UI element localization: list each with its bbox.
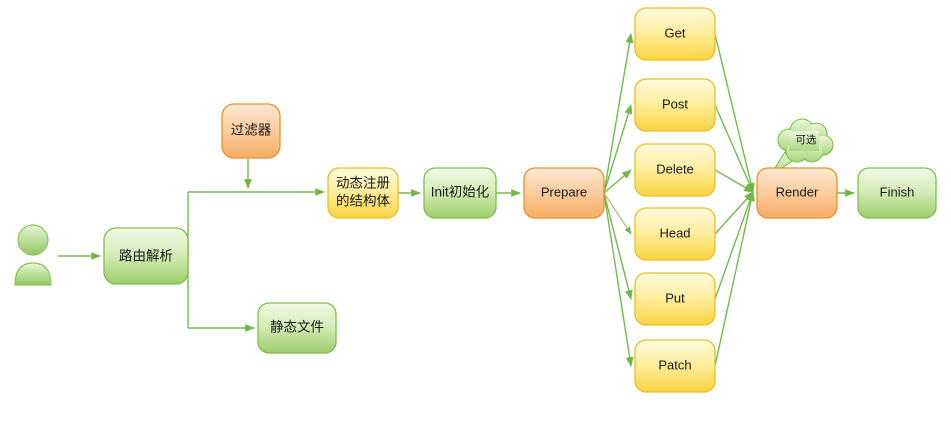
node-dynamic-struct[interactable]: 动态注册 的结构体 [328, 168, 398, 218]
node-finish[interactable]: Finish [858, 168, 936, 218]
node-static-file-box[interactable] [258, 303, 336, 353]
node-static-file[interactable]: 静态文件 [258, 303, 336, 353]
edge-post-to-render [715, 105, 753, 192]
node-finish-box[interactable] [858, 168, 936, 218]
node-delete-box[interactable] [635, 144, 715, 196]
node-get[interactable]: Get [635, 8, 715, 60]
node-delete[interactable]: Delete [635, 144, 715, 196]
node-head[interactable]: Head [635, 208, 715, 260]
node-route-box[interactable] [104, 228, 188, 284]
edge-prepare-to-patch [604, 193, 631, 366]
edge-head-to-render [715, 192, 753, 234]
edge-put-to-render [715, 192, 753, 299]
node-prepare-box[interactable] [524, 168, 604, 218]
node-patch[interactable]: Patch [635, 340, 715, 392]
edge-delete-to-render [715, 170, 753, 192]
edge-get-to-render [715, 34, 753, 192]
actor-head-icon [18, 225, 48, 255]
user-actor [15, 225, 51, 285]
node-post[interactable]: Post [635, 79, 715, 131]
edge-patch-to-render [715, 192, 753, 366]
node-patch-box[interactable] [635, 340, 715, 392]
node-head-box[interactable] [635, 208, 715, 260]
edge-prepare-to-head [604, 193, 631, 234]
edge-prepare-to-post [604, 105, 631, 193]
diagram-canvas: 路由解析 过滤器 静态文件 动态注册 的结构体 Init初始化 [0, 0, 951, 448]
node-render-box[interactable] [757, 168, 837, 218]
node-put-box[interactable] [635, 273, 715, 325]
node-init[interactable]: Init初始化 [424, 168, 496, 218]
node-filter-box[interactable] [222, 104, 280, 158]
node-route[interactable]: 路由解析 [104, 228, 188, 284]
actor-body-icon [15, 263, 51, 285]
edge-prepare-to-get [604, 34, 631, 193]
flowchart-svg: 路由解析 过滤器 静态文件 动态注册 的结构体 Init初始化 [0, 0, 951, 448]
node-get-box[interactable] [635, 8, 715, 60]
node-layer: 路由解析 过滤器 静态文件 动态注册 的结构体 Init初始化 [104, 8, 936, 392]
node-dynamic-struct-box[interactable] [328, 168, 398, 218]
node-post-box[interactable] [635, 79, 715, 131]
node-put[interactable]: Put [635, 273, 715, 325]
node-filter[interactable]: 过滤器 [222, 104, 280, 158]
node-init-box[interactable] [424, 168, 496, 218]
node-render[interactable]: Render [757, 168, 837, 218]
node-prepare[interactable]: Prepare [524, 168, 604, 218]
